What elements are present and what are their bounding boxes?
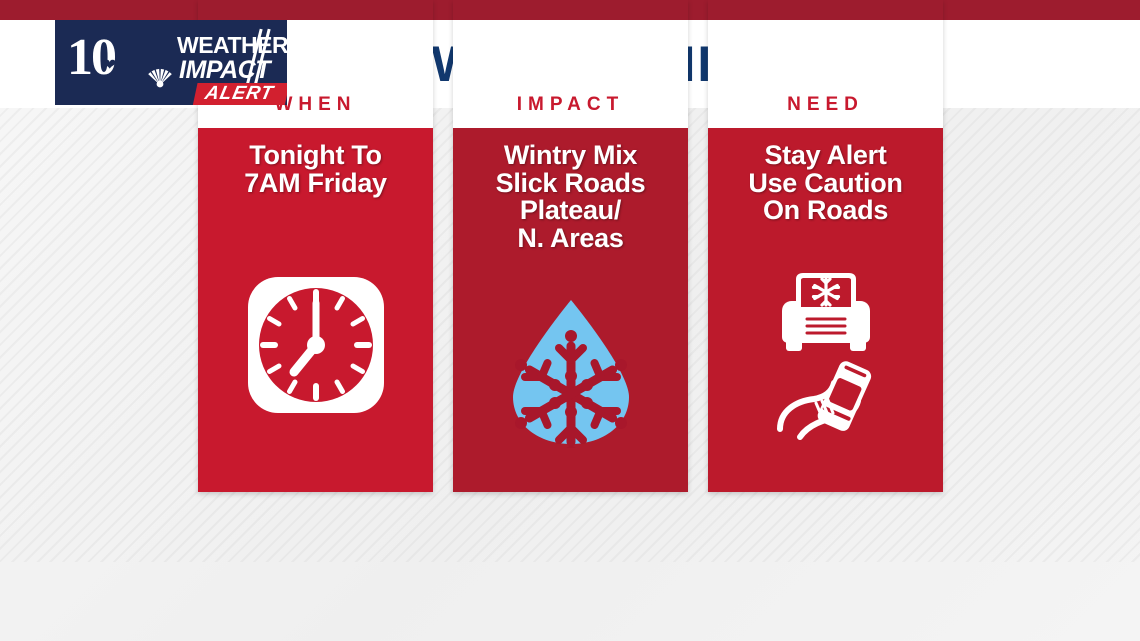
logo-weather-text: WEATHER [177, 34, 287, 57]
card-impact-body: Wintry Mix Slick Roads Plateau/ N. Areas [453, 128, 688, 492]
station-logo: 10 ❤ WEATHER IMPACT ALERT [55, 20, 287, 105]
card-impact-text: Wintry Mix Slick Roads Plateau/ N. Areas [453, 142, 688, 252]
logo-alert-text: ALERT [203, 84, 275, 105]
card-need-header: NEED [708, 20, 943, 128]
heart-icon: ❤ [103, 58, 116, 74]
card-need-top-bar [708, 0, 943, 20]
snow-covered-car-icon [770, 271, 882, 355]
card-when-line-1: Tonight To [202, 142, 429, 170]
card-need-line-1: Stay Alert [712, 142, 939, 170]
card-when-body: Tonight To 7AM Friday [198, 128, 433, 492]
card-when-icon-area [198, 197, 433, 492]
card-impact-header: IMPACT [453, 20, 688, 128]
card-impact-top-bar [453, 0, 688, 20]
card-impact-line-4: N. Areas [457, 225, 684, 253]
card-when-top-bar [198, 0, 433, 20]
card-impact-icon-area [453, 252, 688, 492]
nbc-peacock-icon [147, 62, 173, 88]
alarm-clock-icon [242, 271, 390, 419]
logo-alert-badge: ALERT [192, 83, 287, 105]
alert-cards-row: WHEN Tonight To 7AM Friday [198, 0, 943, 492]
card-need-header-label: NEED [787, 95, 864, 114]
card-impact-line-3: Plateau/ [457, 197, 684, 225]
card-impact-line-2: Slick Roads [457, 170, 684, 198]
card-when-text: Tonight To 7AM Friday [198, 142, 433, 197]
station-logo-inner: 10 ❤ WEATHER IMPACT ALERT [55, 20, 287, 105]
card-when-line-2: 7AM Friday [202, 170, 429, 198]
card-impact: IMPACT Wintry Mix Slick Roads Plateau/ N… [453, 0, 688, 492]
card-need-text: Stay Alert Use Caution On Roads [708, 142, 943, 225]
card-need-body: Stay Alert Use Caution On Roads [708, 128, 943, 492]
skidding-car-icon [770, 359, 882, 445]
card-need: NEED Stay Alert Use Caution On Roads [708, 0, 943, 492]
card-need-line-3: On Roads [712, 197, 939, 225]
card-need-icon-area [708, 225, 943, 492]
card-impact-line-1: Wintry Mix [457, 142, 684, 170]
snowflake-in-water-droplet-icon [505, 296, 637, 448]
card-impact-header-label: IMPACT [517, 95, 624, 114]
card-need-line-2: Use Caution [712, 170, 939, 198]
